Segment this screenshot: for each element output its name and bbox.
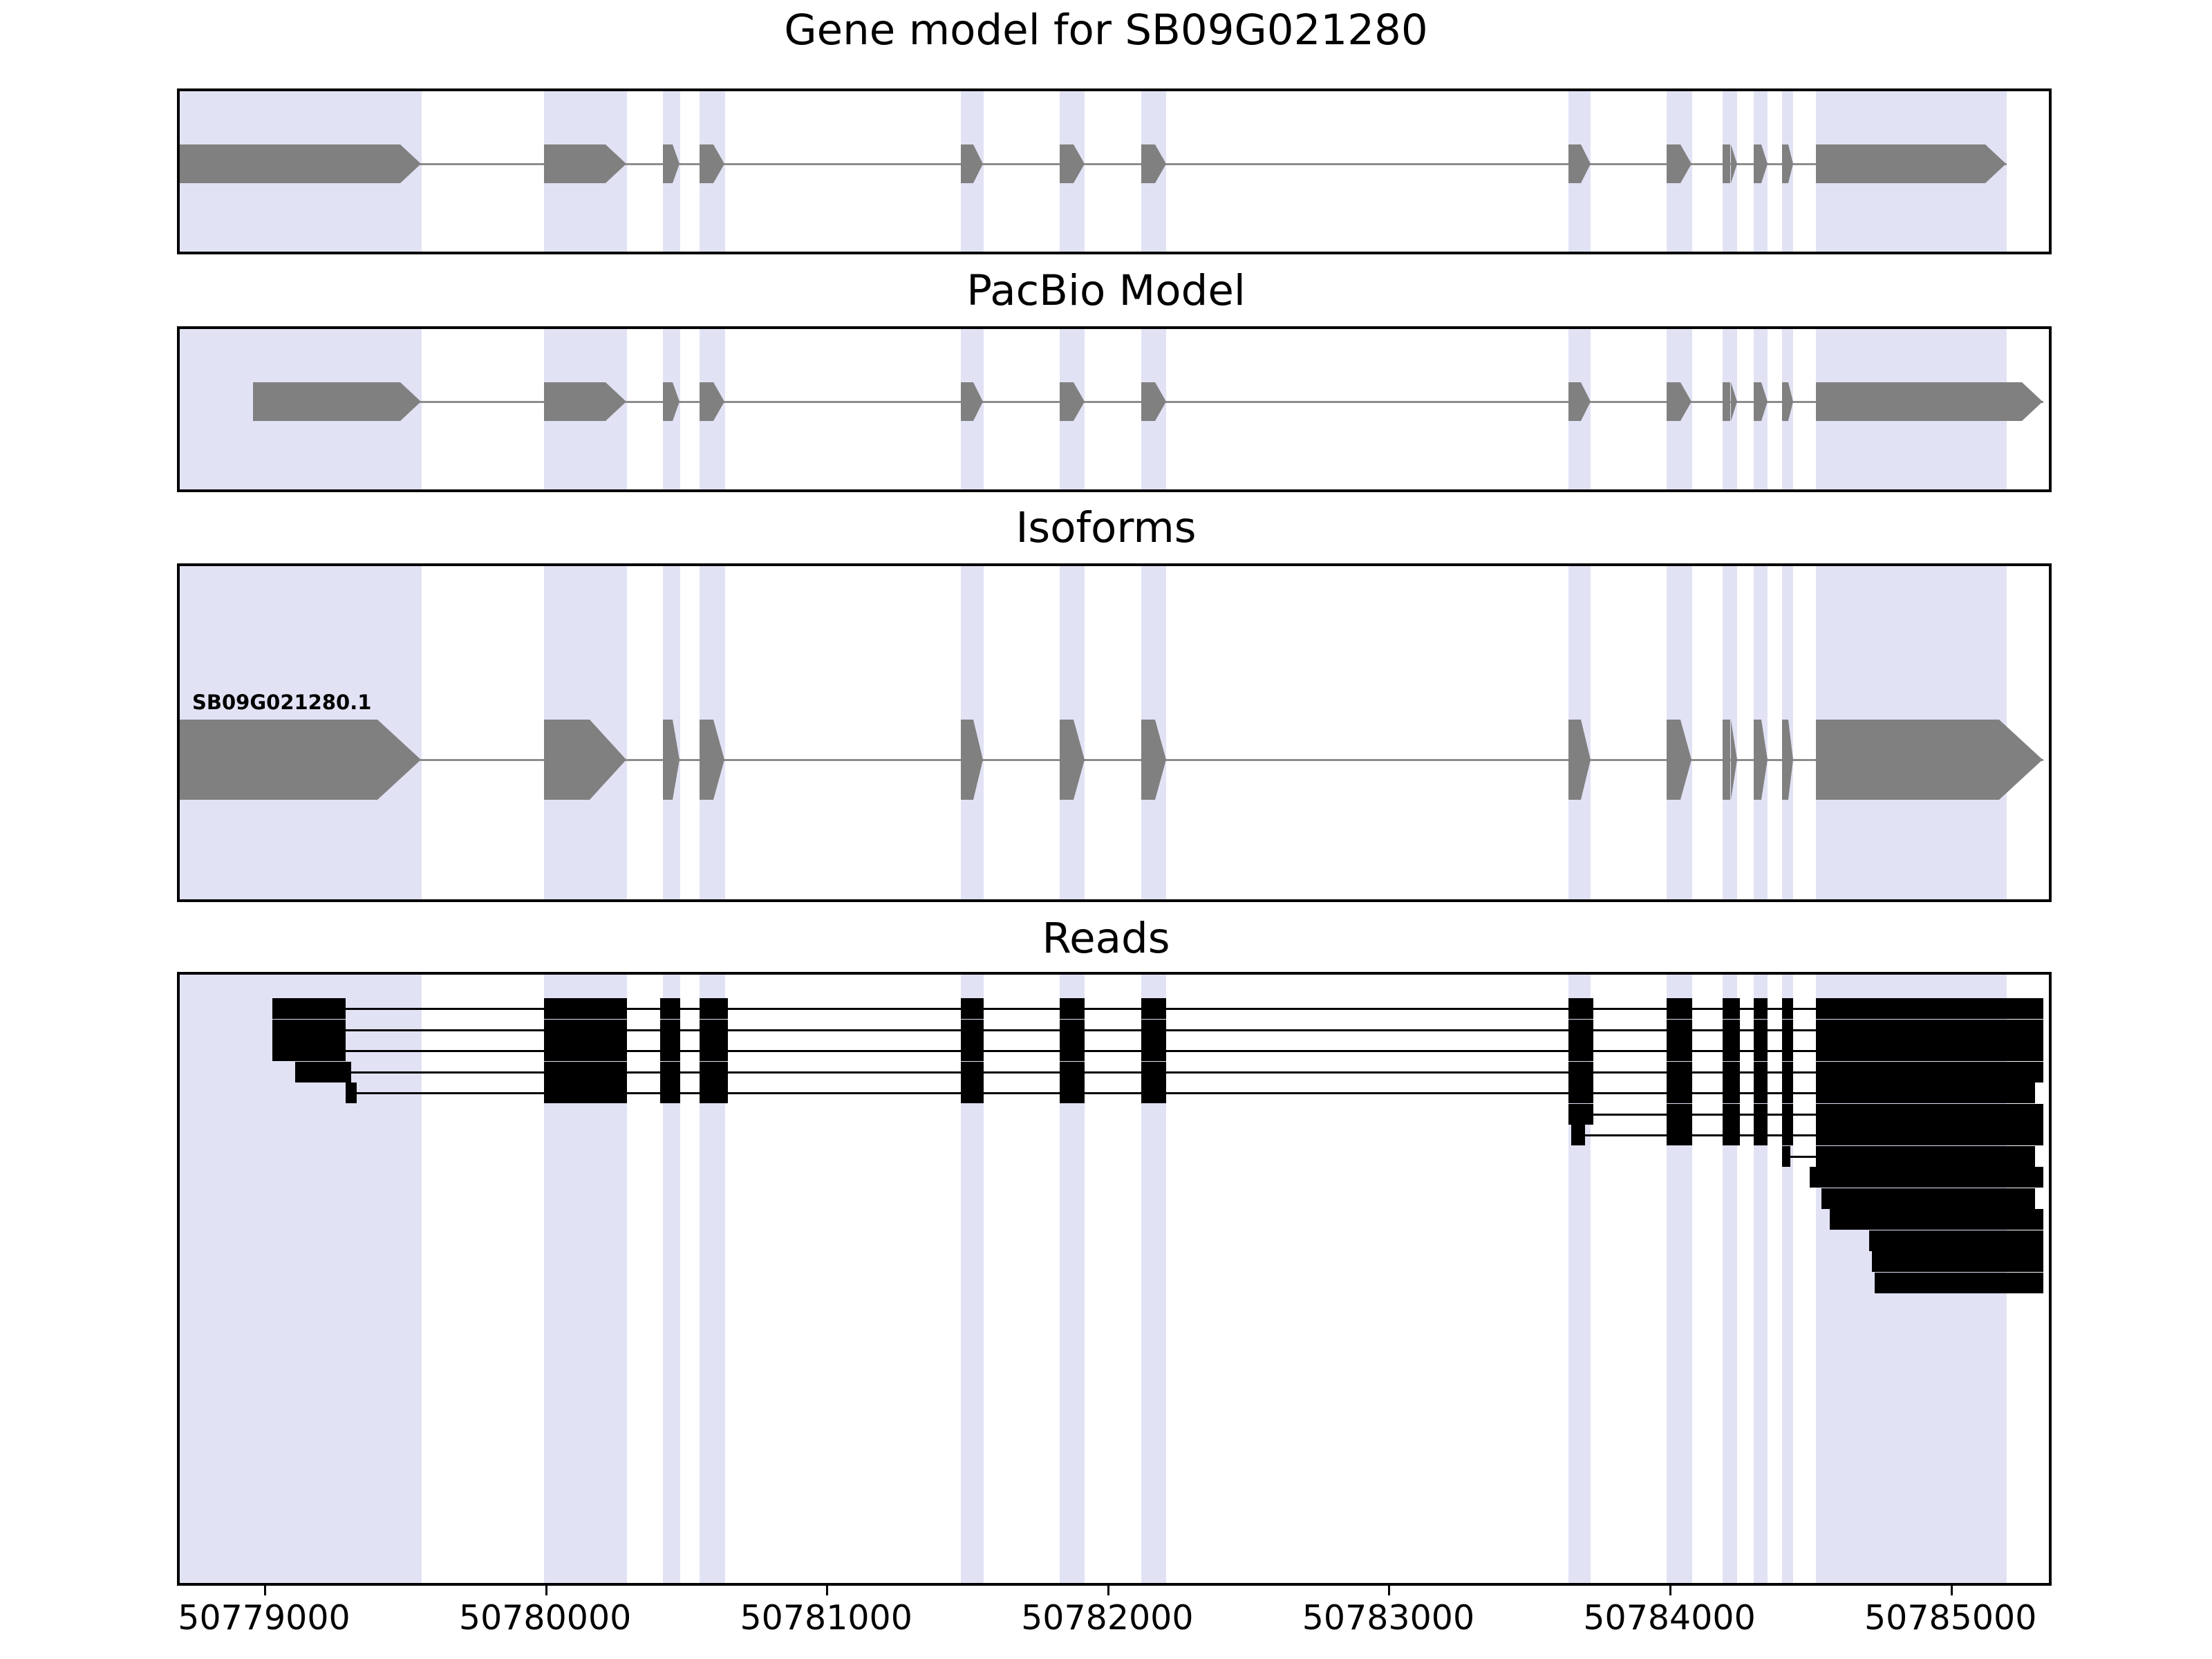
read-block bbox=[1754, 1104, 1768, 1125]
read-block bbox=[1816, 1020, 2043, 1040]
reads-panel bbox=[177, 972, 2052, 1586]
isoform-label: SB09G021280.1 bbox=[192, 691, 371, 714]
read-block bbox=[1060, 1082, 1085, 1103]
exon-arrow-icon bbox=[606, 144, 626, 183]
genome-browser-figure: Gene model for SB09G021280 PacBio Model … bbox=[0, 0, 2212, 1659]
exon-arrow-icon bbox=[713, 144, 724, 183]
x-tick-label: 50783000 bbox=[1302, 1598, 1474, 1638]
exon-block bbox=[1141, 720, 1155, 800]
read-block bbox=[1782, 1020, 1793, 1040]
exon-arrow-icon bbox=[673, 144, 679, 183]
read-block bbox=[1723, 1040, 1739, 1061]
read-block bbox=[544, 1040, 627, 1061]
read-block bbox=[1816, 1146, 2035, 1167]
exon-arrow-icon bbox=[1731, 720, 1737, 800]
exon-block bbox=[961, 144, 973, 183]
exon-block bbox=[1667, 144, 1680, 183]
read-block bbox=[1754, 1125, 1768, 1145]
read-block bbox=[544, 1020, 627, 1040]
read-block bbox=[1782, 1146, 1790, 1167]
exon-block bbox=[544, 720, 590, 800]
read-block bbox=[1568, 1020, 1594, 1040]
exon-block bbox=[1782, 382, 1788, 421]
isoforms-title: Isoforms bbox=[0, 503, 2212, 552]
pacbio-model-title: PacBio Model bbox=[0, 266, 2212, 315]
exon-block bbox=[1816, 720, 2000, 800]
read-block bbox=[272, 998, 346, 1019]
read-block bbox=[1571, 1125, 1585, 1145]
exon-block bbox=[1141, 382, 1155, 421]
exon-block bbox=[1782, 144, 1788, 183]
exon-arrow-icon bbox=[606, 382, 626, 421]
read-block bbox=[1782, 1062, 1793, 1082]
read-block bbox=[1568, 1062, 1594, 1082]
read-block bbox=[1810, 1167, 2043, 1188]
read-block bbox=[1667, 1020, 1692, 1040]
x-tick bbox=[1107, 1586, 1109, 1595]
x-tick bbox=[1388, 1586, 1390, 1595]
read-block bbox=[1723, 1082, 1739, 1103]
x-tick-label: 50784000 bbox=[1583, 1598, 1755, 1638]
read-block bbox=[700, 1082, 728, 1103]
read-block bbox=[1060, 1040, 1085, 1061]
read-block bbox=[1141, 1020, 1167, 1040]
read-block bbox=[700, 998, 728, 1019]
read-block bbox=[1060, 1020, 1085, 1040]
read-block bbox=[1667, 1082, 1692, 1103]
exon-arrow-icon bbox=[713, 382, 724, 421]
exon-arrow-icon bbox=[377, 720, 421, 800]
exon-block bbox=[1754, 382, 1761, 421]
read-block bbox=[1667, 998, 1692, 1019]
exon-block bbox=[1754, 144, 1761, 183]
exon-block bbox=[1782, 720, 1788, 800]
isoforms-panel: SB09G021280.1 bbox=[177, 563, 2052, 902]
exon-block bbox=[1667, 720, 1680, 800]
read-block bbox=[1754, 1062, 1768, 1082]
read-block bbox=[272, 1040, 346, 1061]
read-block bbox=[1816, 1062, 2043, 1082]
exon-block bbox=[1723, 144, 1730, 183]
read-block bbox=[1816, 1040, 2043, 1061]
read-block bbox=[1568, 1040, 1594, 1061]
x-tick bbox=[545, 1586, 547, 1595]
exon-arrow-icon bbox=[1680, 382, 1691, 421]
exon-block bbox=[180, 144, 400, 183]
exon-block bbox=[1060, 144, 1074, 183]
exon-arrow-icon bbox=[1074, 144, 1085, 183]
exon-block bbox=[1754, 720, 1761, 800]
read-block bbox=[660, 1020, 679, 1040]
exon-block bbox=[1816, 144, 1986, 183]
exon-block bbox=[961, 382, 973, 421]
read-block bbox=[1723, 1104, 1739, 1125]
exon-block bbox=[1568, 720, 1581, 800]
read-block bbox=[1816, 998, 2043, 1019]
read-block bbox=[1754, 1020, 1768, 1040]
read-block bbox=[700, 1020, 728, 1040]
exon-block bbox=[1667, 382, 1680, 421]
exon-arrow-icon bbox=[1581, 720, 1591, 800]
read-block bbox=[1060, 1062, 1085, 1082]
read-block bbox=[660, 1082, 679, 1103]
x-tick bbox=[264, 1586, 266, 1595]
x-tick-label: 50785000 bbox=[1864, 1598, 2036, 1638]
exon-block bbox=[700, 144, 713, 183]
exon-arrow-icon bbox=[973, 144, 983, 183]
read-block bbox=[1667, 1104, 1692, 1125]
x-tick bbox=[1951, 1586, 1953, 1595]
x-axis: 5077900050780000507810005078200050783000… bbox=[0, 1586, 2212, 1655]
read-block bbox=[1723, 998, 1739, 1019]
exon-block bbox=[700, 382, 713, 421]
read-block bbox=[1816, 1082, 2035, 1103]
exon-arrow-icon bbox=[590, 720, 626, 800]
exon-arrow-icon bbox=[1985, 144, 2006, 183]
read-block bbox=[1754, 1082, 1768, 1103]
read-block bbox=[1754, 1040, 1768, 1061]
exon-arrow-icon bbox=[1155, 720, 1166, 800]
exon-arrow-icon bbox=[973, 382, 983, 421]
read-block bbox=[1872, 1251, 2043, 1272]
read-block bbox=[1141, 1082, 1167, 1103]
exon-arrow-icon bbox=[1155, 144, 1166, 183]
x-tick-label: 50782000 bbox=[1021, 1598, 1193, 1638]
exon-block bbox=[1816, 382, 2023, 421]
read-block bbox=[1060, 998, 1085, 1019]
read-block bbox=[1723, 1020, 1739, 1040]
gene-model-title: Gene model for SB09G021280 bbox=[0, 6, 2212, 55]
exon-block bbox=[1723, 720, 1730, 800]
read-block bbox=[700, 1040, 728, 1061]
read-block bbox=[1723, 1062, 1739, 1082]
exon-block bbox=[1723, 382, 1730, 421]
read-block bbox=[544, 1082, 627, 1103]
read-block bbox=[1568, 998, 1594, 1019]
exon-arrow-icon bbox=[1761, 144, 1768, 183]
read-block bbox=[1782, 1040, 1793, 1061]
exon-arrow-icon bbox=[1581, 144, 1591, 183]
read-block bbox=[544, 1062, 627, 1082]
exon-arrow-icon bbox=[1581, 382, 1591, 421]
exon-arrow-icon bbox=[1761, 382, 1768, 421]
gene-model-panel bbox=[177, 88, 2052, 254]
exon-block bbox=[1060, 382, 1074, 421]
read-block bbox=[295, 1062, 351, 1082]
read-block bbox=[1875, 1273, 2043, 1293]
read-block bbox=[961, 1062, 984, 1082]
exon-arrow-icon bbox=[1999, 720, 2043, 800]
read-block bbox=[1568, 1104, 1594, 1125]
exon-arrow-icon bbox=[1680, 720, 1691, 800]
read-block bbox=[1816, 1125, 2043, 1145]
exon-block bbox=[663, 382, 672, 421]
exon-arrow-icon bbox=[1074, 382, 1085, 421]
exon-block bbox=[663, 144, 672, 183]
exon-arrow-icon bbox=[673, 720, 679, 800]
read-block bbox=[700, 1062, 728, 1082]
exon-arrow-icon bbox=[1074, 720, 1085, 800]
exon-block bbox=[544, 144, 606, 183]
read-block bbox=[1830, 1209, 2043, 1230]
exon-arrow-icon bbox=[1788, 382, 1793, 421]
read-block bbox=[544, 998, 627, 1019]
exon-block bbox=[1060, 720, 1074, 800]
read-block bbox=[660, 1040, 679, 1061]
exon-block bbox=[544, 382, 606, 421]
read-block bbox=[1821, 1188, 2035, 1209]
read-block bbox=[961, 998, 984, 1019]
read-block bbox=[1141, 1040, 1167, 1061]
read-block bbox=[1667, 1125, 1692, 1145]
read-block bbox=[1141, 998, 1167, 1019]
read-block bbox=[1869, 1230, 2043, 1251]
read-block bbox=[1816, 1104, 2043, 1125]
exon-arrow-icon bbox=[400, 382, 421, 421]
read-block bbox=[1782, 998, 1793, 1019]
read-block bbox=[1667, 1062, 1692, 1082]
exon-block bbox=[700, 720, 713, 800]
reads-title: Reads bbox=[0, 914, 2212, 963]
exon-arrow-icon bbox=[1155, 382, 1166, 421]
exon-block bbox=[253, 382, 400, 421]
exon-arrow-icon bbox=[713, 720, 724, 800]
read-block bbox=[272, 1020, 346, 1040]
read-block bbox=[1568, 1082, 1594, 1103]
x-tick bbox=[826, 1586, 828, 1595]
x-tick bbox=[1669, 1586, 1671, 1595]
read-block bbox=[1782, 1125, 1793, 1145]
exon-arrow-icon bbox=[1731, 382, 1737, 421]
read-block bbox=[660, 1062, 679, 1082]
read-block bbox=[961, 1020, 984, 1040]
exon-arrow-icon bbox=[1680, 144, 1691, 183]
exon-block bbox=[663, 720, 672, 800]
read-block bbox=[660, 998, 679, 1019]
read-block bbox=[961, 1082, 984, 1103]
read-block bbox=[1667, 1040, 1692, 1061]
pacbio-model-panel bbox=[177, 326, 2052, 492]
exon-arrow-icon bbox=[2022, 382, 2043, 421]
x-tick-label: 50781000 bbox=[740, 1598, 912, 1638]
exon-arrow-icon bbox=[1788, 144, 1793, 183]
exon-arrow-icon bbox=[973, 720, 983, 800]
exon-block bbox=[961, 720, 973, 800]
x-tick-label: 50779000 bbox=[178, 1598, 350, 1638]
read-block bbox=[1723, 1125, 1739, 1145]
read-block bbox=[346, 1082, 357, 1103]
exon-block bbox=[180, 720, 377, 800]
read-block bbox=[961, 1040, 984, 1061]
exon-arrow-icon bbox=[1761, 720, 1768, 800]
read-block bbox=[1782, 1082, 1793, 1103]
exon-block bbox=[1568, 382, 1581, 421]
read-block bbox=[1754, 998, 1768, 1019]
exon-arrow-icon bbox=[400, 144, 421, 183]
read-block bbox=[1782, 1104, 1793, 1125]
exon-block bbox=[1141, 144, 1155, 183]
read-block bbox=[1141, 1062, 1167, 1082]
exon-arrow-icon bbox=[673, 382, 679, 421]
exon-block bbox=[1568, 144, 1581, 183]
x-tick-label: 50780000 bbox=[459, 1598, 631, 1638]
exon-arrow-icon bbox=[1731, 144, 1737, 183]
exon-arrow-icon bbox=[1788, 720, 1793, 800]
